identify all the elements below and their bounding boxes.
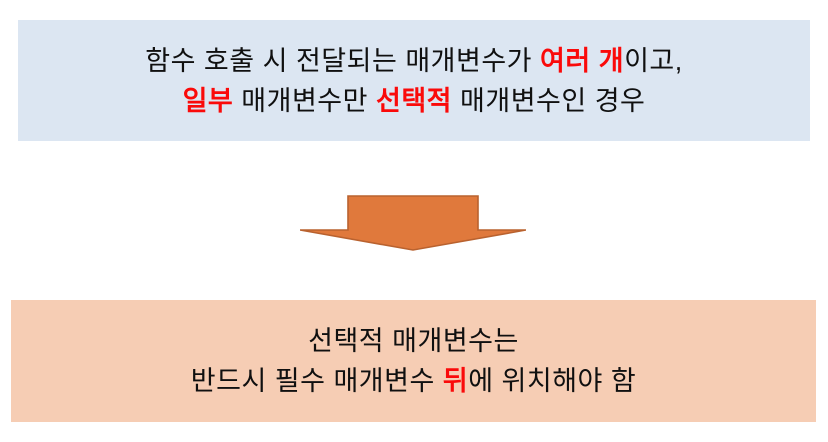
result-line-2-text-part1: 반드시 필수 매개변수	[191, 366, 443, 396]
condition-line-2: 일부 매개변수만 선택적 매개변수인 경우	[183, 81, 646, 121]
arrow-down-icon	[300, 194, 526, 252]
result-box: 선택적 매개변수는 반드시 필수 매개변수 뒤에 위치해야 함	[11, 300, 816, 422]
result-line-2: 반드시 필수 매개변수 뒤에 위치해야 함	[191, 361, 636, 401]
result-line-2-emphasis: 뒤	[443, 366, 468, 396]
condition-line-2-emphasis-2: 선택적	[376, 86, 452, 116]
condition-line-2-text-part1: 매개변수만	[233, 86, 376, 116]
result-line-1: 선택적 매개변수는	[308, 321, 519, 361]
condition-line-1-text-part2: 이고,	[624, 46, 683, 76]
condition-line-2-emphasis-1: 일부	[183, 86, 234, 116]
slide-canvas: 함수 호출 시 전달되는 매개변수가 여러 개이고, 일부 매개변수만 선택적 …	[0, 0, 828, 442]
condition-line-1-text-part1: 함수 호출 시 전달되는 매개변수가	[145, 46, 540, 76]
condition-line-2-text-part2: 매개변수인 경우	[452, 86, 645, 116]
result-line-1-text: 선택적 매개변수는	[308, 326, 519, 356]
result-line-2-text-part2: 에 위치해야 함	[468, 366, 636, 396]
condition-line-1: 함수 호출 시 전달되는 매개변수가 여러 개이고,	[145, 41, 683, 81]
condition-box: 함수 호출 시 전달되는 매개변수가 여러 개이고, 일부 매개변수만 선택적 …	[18, 20, 810, 141]
condition-line-1-emphasis: 여러 개	[540, 46, 624, 76]
